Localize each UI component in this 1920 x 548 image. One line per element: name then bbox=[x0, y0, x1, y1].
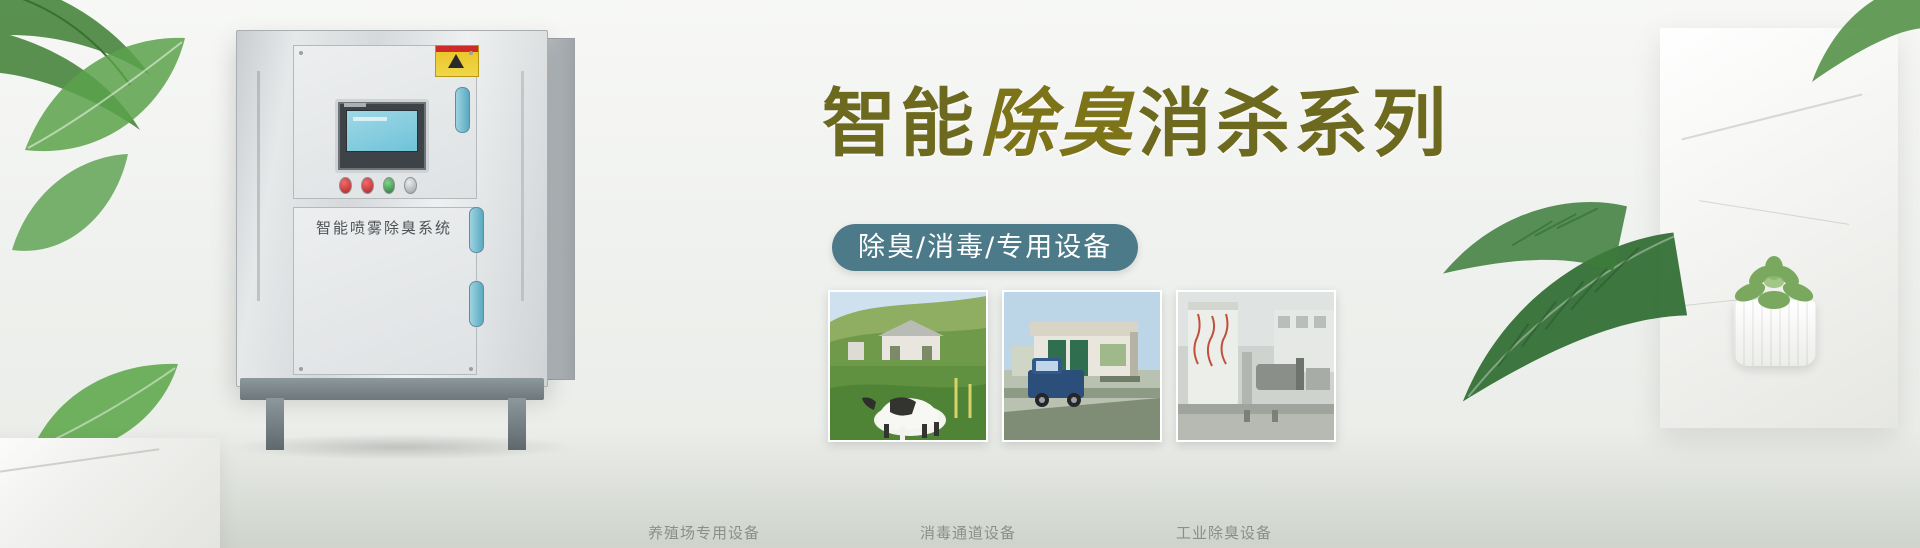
subtitle-pill: 除臭/消毒/专用设备 bbox=[832, 224, 1138, 271]
machine-leg bbox=[508, 398, 526, 450]
bottom-caption-1: 养殖场专用设备 bbox=[648, 522, 760, 543]
stop-button-icon[interactable] bbox=[339, 177, 352, 194]
industrial-tank-illustration bbox=[1178, 292, 1334, 440]
machine-base bbox=[240, 378, 544, 400]
emergency-button-icon[interactable] bbox=[361, 177, 374, 194]
hmi-touch-panel[interactable] bbox=[335, 99, 429, 173]
hmi-brand-mark bbox=[344, 103, 366, 107]
bottom-caption-2: 消毒通道设备 bbox=[920, 522, 1016, 543]
sewage-plant-photo[interactable] bbox=[1176, 290, 1336, 442]
screw-icon bbox=[469, 367, 473, 371]
machine-cabinet: 智能喷雾除臭系统 bbox=[236, 30, 548, 387]
dairy-farm-illustration bbox=[830, 292, 986, 440]
control-button-row[interactable] bbox=[339, 177, 417, 193]
door-handle[interactable] bbox=[469, 281, 484, 327]
headline-part-2: 消杀系列 bbox=[1138, 81, 1450, 167]
screw-icon bbox=[299, 51, 303, 55]
bottom-caption-strip: 养殖场专用设备 消毒通道设备 工业除臭设备 bbox=[0, 522, 1920, 548]
screw-icon bbox=[469, 51, 473, 55]
odor-removal-machine: 智能喷雾除臭系统 bbox=[236, 30, 576, 450]
warning-label-icon bbox=[435, 45, 479, 77]
machine-leg bbox=[266, 398, 284, 450]
photo-strip bbox=[828, 290, 1336, 442]
disinfection-channel-illustration bbox=[1004, 292, 1160, 440]
selector-knob-icon[interactable] bbox=[404, 177, 417, 194]
door-handle[interactable] bbox=[455, 87, 470, 133]
headline-part-1: 智能 bbox=[822, 81, 978, 167]
machine-side-panel bbox=[546, 38, 575, 380]
dairy-farm-photo[interactable] bbox=[828, 290, 988, 442]
hmi-screen bbox=[346, 110, 418, 152]
page-title: 智能除臭消杀系列 bbox=[822, 76, 1622, 172]
cabinet-seam bbox=[257, 71, 260, 301]
start-button-icon[interactable] bbox=[383, 177, 396, 194]
bottom-caption-3: 工业除臭设备 bbox=[1176, 522, 1272, 543]
machine-label: 智能喷雾除臭系统 bbox=[293, 217, 475, 238]
leaf-icon bbox=[1806, 0, 1920, 92]
promo-banner: 智能喷雾除臭系统 智能除臭消杀系列 除臭/消毒/专用设备 bbox=[0, 0, 1920, 548]
succulent-plant-icon bbox=[1720, 248, 1828, 318]
marble-vein bbox=[1699, 200, 1850, 225]
cabinet-seam bbox=[521, 71, 524, 301]
marble-vein bbox=[1682, 94, 1863, 141]
screw-icon bbox=[299, 367, 303, 371]
leaf-icon bbox=[10, 150, 130, 270]
headline-emphasis: 除臭 bbox=[978, 81, 1138, 167]
vehicle-disinfection-photo[interactable] bbox=[1002, 290, 1162, 442]
